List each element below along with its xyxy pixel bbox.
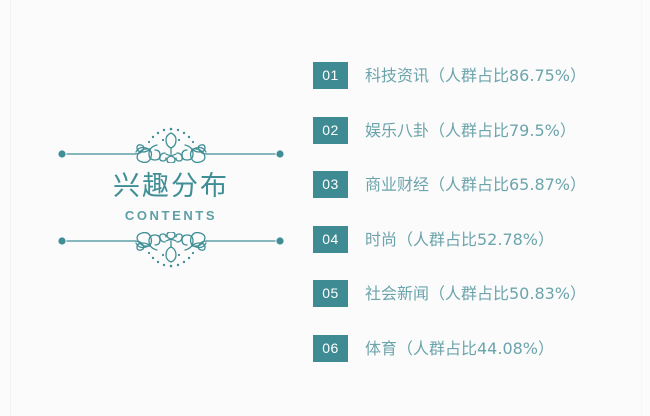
page-edge-line-left xyxy=(10,0,11,416)
page-title: 兴趣分布 xyxy=(40,164,302,203)
contents-list: 01 科技资讯（人群占比86.75%） 02 娱乐八卦（人群占比79.5%） 0… xyxy=(313,62,633,390)
list-item-label: 社会新闻（人群占比50.83%） xyxy=(365,280,586,307)
ornamental-divider-top xyxy=(40,123,302,163)
list-item-number-badge: 02 xyxy=(313,117,348,144)
list-item-number-badge: 03 xyxy=(313,171,348,198)
list-item[interactable]: 01 科技资讯（人群占比86.75%） xyxy=(313,62,633,117)
page-edge-line-right xyxy=(641,0,642,416)
list-item-number-badge: 06 xyxy=(313,335,348,362)
list-item-label: 科技资讯（人群占比86.75%） xyxy=(365,62,586,89)
list-item-label: 体育（人群占比44.08%） xyxy=(365,335,554,362)
list-item-number-badge: 05 xyxy=(313,280,348,307)
list-item[interactable]: 04 时尚（人群占比52.78%） xyxy=(313,226,633,281)
list-item[interactable]: 05 社会新闻（人群占比50.83%） xyxy=(313,280,633,335)
page-subtitle: CONTENTS xyxy=(40,208,302,223)
list-item-number-badge: 01 xyxy=(313,62,348,89)
list-item[interactable]: 06 体育（人群占比44.08%） xyxy=(313,335,633,390)
list-item[interactable]: 03 商业财经（人群占比65.87%） xyxy=(313,171,633,226)
list-item-label: 娱乐八卦（人群占比79.5%） xyxy=(365,117,576,144)
slide-canvas: 兴趣分布 CONTENTS xyxy=(0,0,650,416)
ornamental-divider-bottom xyxy=(40,232,302,272)
list-item-label: 时尚（人群占比52.78%） xyxy=(365,226,554,253)
ornament-top-icon xyxy=(40,123,302,163)
title-block: 兴趣分布 CONTENTS xyxy=(40,112,302,272)
list-item-label: 商业财经（人群占比65.87%） xyxy=(365,171,586,198)
list-item-number-badge: 04 xyxy=(313,226,348,253)
ornament-bottom-icon xyxy=(40,232,302,272)
ornament-top-dots xyxy=(148,128,194,143)
list-item[interactable]: 02 娱乐八卦（人群占比79.5%） xyxy=(313,117,633,172)
